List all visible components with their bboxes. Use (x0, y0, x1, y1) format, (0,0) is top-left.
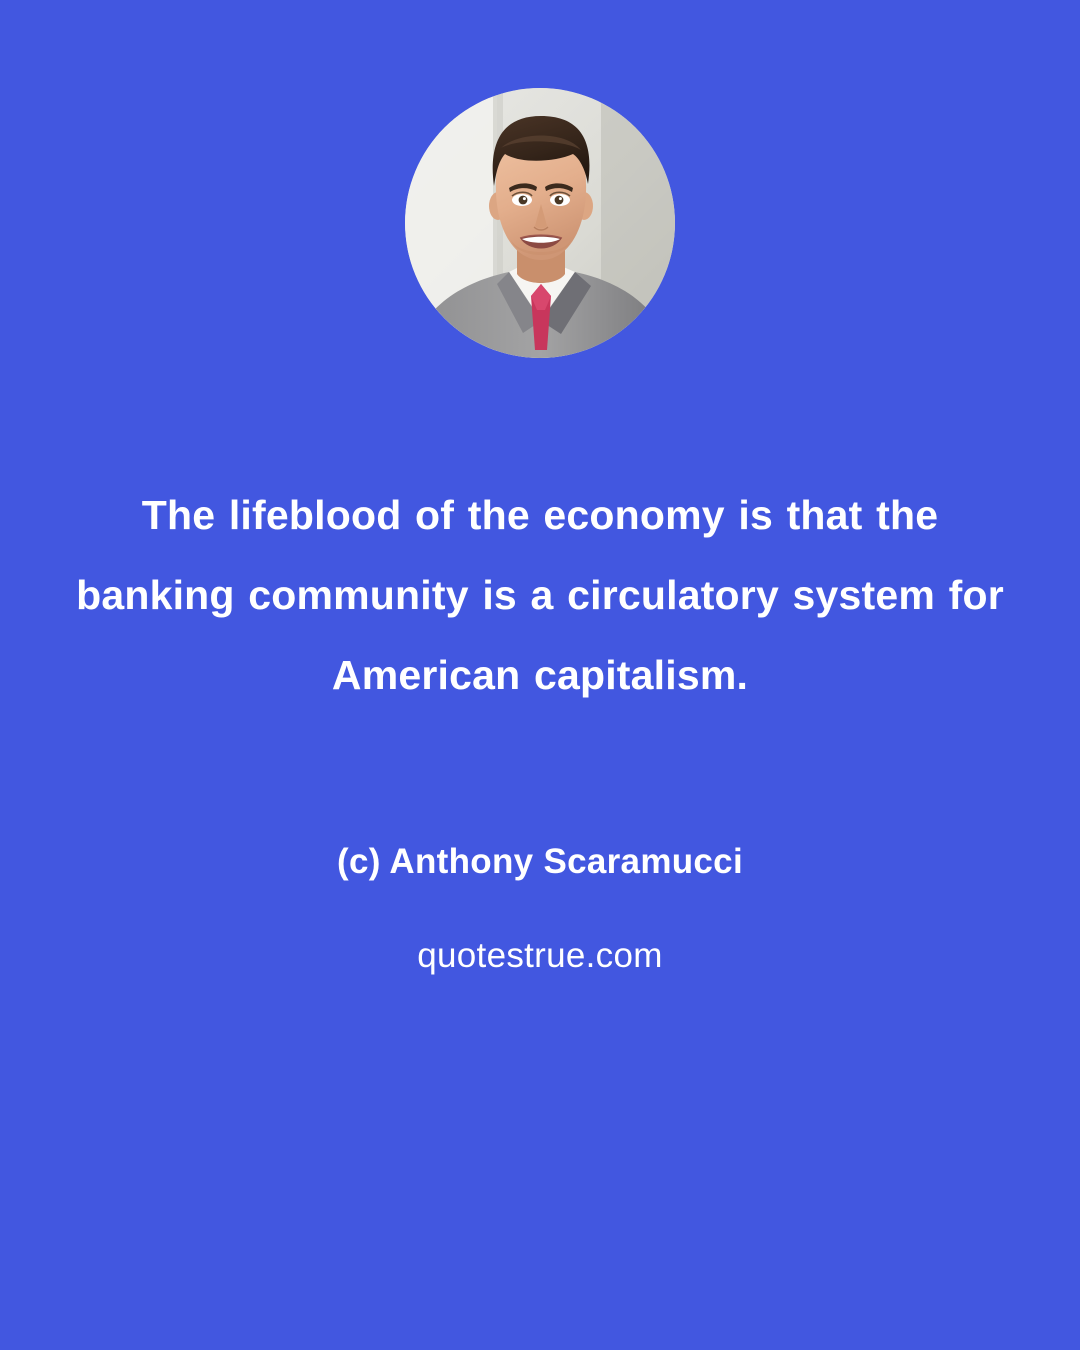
source-website: quotestrue.com (75, 936, 1005, 976)
avatar (405, 88, 675, 358)
quote-text: The lifeblood of the economy is that the… (75, 476, 1005, 716)
quote-author: (c) Anthony Scaramucci (75, 842, 1005, 882)
quote-card: The lifeblood of the economy is that the… (0, 0, 1080, 1350)
portrait-photo-icon (405, 88, 675, 358)
